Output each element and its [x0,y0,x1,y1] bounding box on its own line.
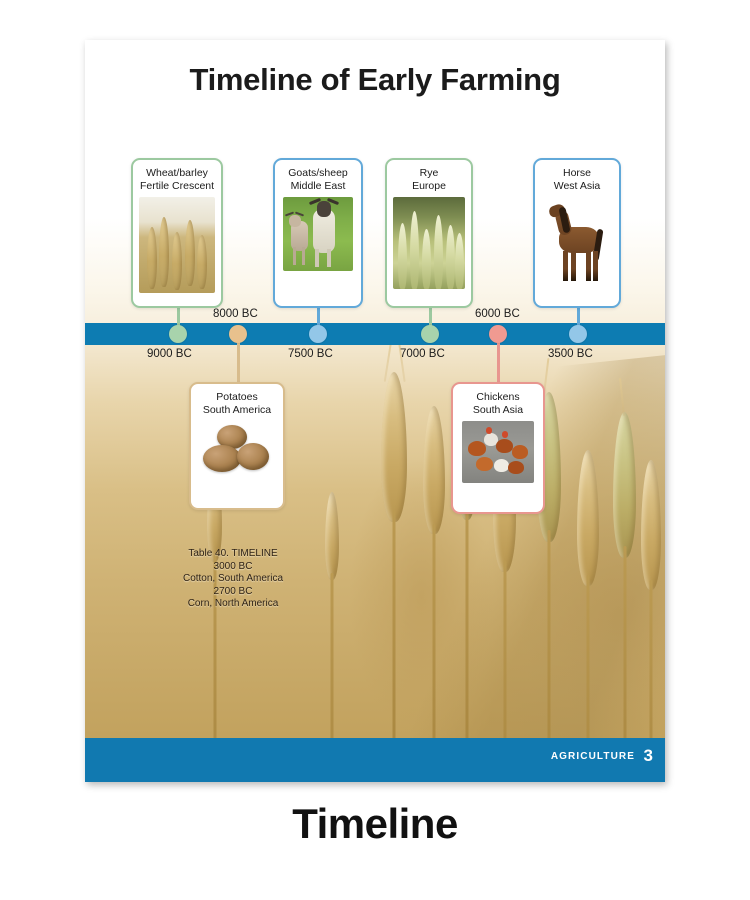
card-label-wheat-barley: Wheat/barley Fertile Crescent [137,167,217,192]
card-image-horse-photo [541,197,613,293]
card-image-goats-photo [283,197,353,271]
timeline-card-wheat-barley[interactable]: Wheat/barley Fertile Crescent [131,158,223,308]
timeline-dot-chickens[interactable] [489,325,507,343]
footer-page-number: 3 [644,746,653,766]
page-footer-bar: AGRICULTURE 3 [85,738,665,782]
footer-section-label: AGRICULTURE [551,751,635,762]
document-page: Timeline of Early Farming 9000 BC 8000 B… [85,40,665,782]
timeline-date-potatoes: 8000 BC [213,308,258,320]
page-title: Timeline of Early Farming [85,62,665,98]
timeline-card-potatoes[interactable]: Potatoes South America [189,382,285,510]
card-image-wheat-photo [139,197,215,293]
card-image-potatoes-photo [197,421,277,487]
card-label-horse: Horse West Asia [539,167,615,192]
timeline-dot-goats-sheep[interactable] [309,325,327,343]
card-label-chickens: Chickens South Asia [457,391,539,416]
bottom-caption: Timeline [0,800,750,848]
timeline-date-goats-sheep: 7500 BC [288,348,333,360]
wheat-field-background-image [85,40,665,782]
card-label-potatoes: Potatoes South America [195,391,279,416]
card-label-rye: Rye Europe [391,167,467,192]
table-caption-block: Table 40. TIMELINE 3000 BC Cotton, South… [143,548,323,611]
timeline-dot-horse[interactable] [569,325,587,343]
timeline-date-horse: 3500 BC [548,348,593,360]
card-image-chickens-photo [462,421,534,483]
timeline-date-rye: 7000 BC [400,348,445,360]
timeline-date-chickens: 6000 BC [475,308,520,320]
timeline-dot-rye[interactable] [421,325,439,343]
timeline-card-rye[interactable]: Rye Europe [385,158,473,308]
timeline-card-horse[interactable]: Horse West Asia [533,158,621,308]
timeline-card-goats-sheep[interactable]: Goats/sheep Middle East [273,158,363,308]
timeline-date-wheat-barley: 9000 BC [147,348,192,360]
timeline-dot-potatoes[interactable] [229,325,247,343]
card-label-goats-sheep: Goats/sheep Middle East [279,167,357,192]
timeline-card-chickens[interactable]: Chickens South Asia [451,382,545,514]
timeline-dot-wheat-barley[interactable] [169,325,187,343]
card-image-rye-photo [393,197,465,289]
